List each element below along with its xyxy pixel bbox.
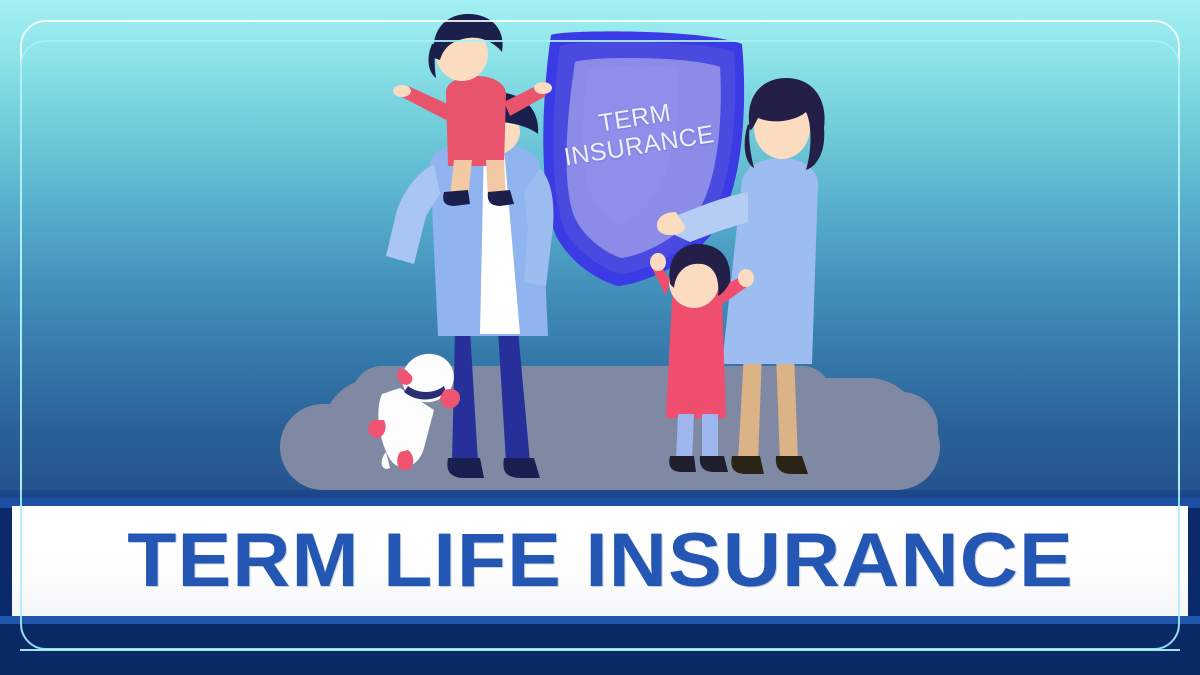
- dog-figure: [368, 347, 460, 470]
- poster-canvas: TERM INSURANCE TERM LIFE INSURANCE: [0, 0, 1200, 675]
- banner-lower-blue-strip: [0, 616, 1200, 624]
- family-illustration: [0, 0, 1200, 498]
- title-banner: TERM LIFE INSURANCE: [12, 506, 1188, 616]
- banner-title: TERM LIFE INSURANCE: [127, 523, 1074, 599]
- bottom-cyan-rule: [20, 649, 1180, 651]
